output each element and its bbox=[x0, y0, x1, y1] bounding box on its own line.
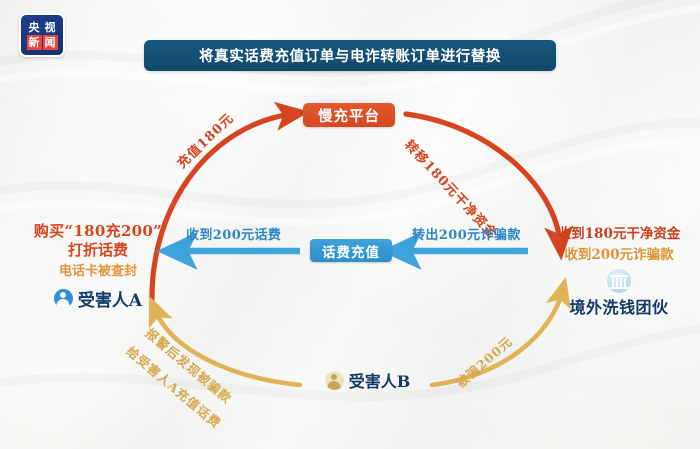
node-phone-bill-recharge[interactable]: 话费充值 bbox=[310, 239, 392, 262]
victim-b-block: 受害人B bbox=[295, 368, 440, 392]
label-received-200-phone: 收到200元话费 bbox=[186, 224, 281, 243]
bank-institution-icon bbox=[607, 269, 631, 293]
user-avatar-icon bbox=[54, 289, 73, 308]
victim-a-note: 电话卡被查封 bbox=[8, 262, 188, 282]
victim-b-name: 受害人B bbox=[349, 368, 411, 392]
overseas-gang-block: 收到180元干净资金 收到200元诈骗款 境外洗钱团伙 bbox=[538, 224, 700, 318]
victim-a-block: 购买“180充200” 打折话费 电话卡被查封 受害人A bbox=[8, 222, 188, 311]
cctv-news-logo: 央 视 新 闻 bbox=[19, 13, 65, 57]
overseas-gang-identity: 境外洗钱团伙 bbox=[538, 269, 700, 318]
victim-a-headline-1: 购买“180充200” bbox=[8, 222, 188, 241]
page-title: 将真实话费充值订单与电诈转账订单进行替换 bbox=[199, 45, 501, 66]
logo-char-xin: 新 bbox=[27, 35, 42, 50]
infographic-canvas: 央 视 新 闻 将真实话费充值订单与电诈转账订单进行替换 bbox=[0, 0, 700, 449]
label-scammed-200: 被骗200元 bbox=[451, 331, 516, 391]
victim-a-identity: 受害人A bbox=[8, 286, 188, 311]
node-slow-recharge-platform[interactable]: 慢充平台 bbox=[303, 103, 395, 127]
gang-line-1: 收到180元干净资金 bbox=[538, 224, 700, 245]
victim-a-name: 受害人A bbox=[78, 286, 142, 311]
gang-line-2: 收到200元诈骗款 bbox=[538, 245, 700, 266]
logo-bottom-row: 新 闻 bbox=[27, 35, 58, 50]
victim-a-headline-2: 打折话费 bbox=[8, 241, 188, 260]
label-transfer-out-200-fraud: 转出200元诈骗款 bbox=[412, 224, 521, 243]
overseas-gang-name: 境外洗钱团伙 bbox=[569, 294, 668, 318]
logo-top-row: 央 视 bbox=[27, 20, 58, 35]
logo-char-wen: 闻 bbox=[43, 35, 58, 50]
label-recharge-180: 充值180元 bbox=[172, 108, 237, 172]
user-avatar-icon bbox=[325, 371, 344, 390]
page-title-banner: 将真实话费充值订单与电诈转账订单进行替换 bbox=[144, 40, 556, 71]
node-recharge-label: 话费充值 bbox=[322, 241, 380, 261]
node-platform-label: 慢充平台 bbox=[318, 105, 380, 126]
logo-char-yang: 央 bbox=[27, 20, 42, 35]
logo-char-shi: 视 bbox=[43, 20, 58, 35]
